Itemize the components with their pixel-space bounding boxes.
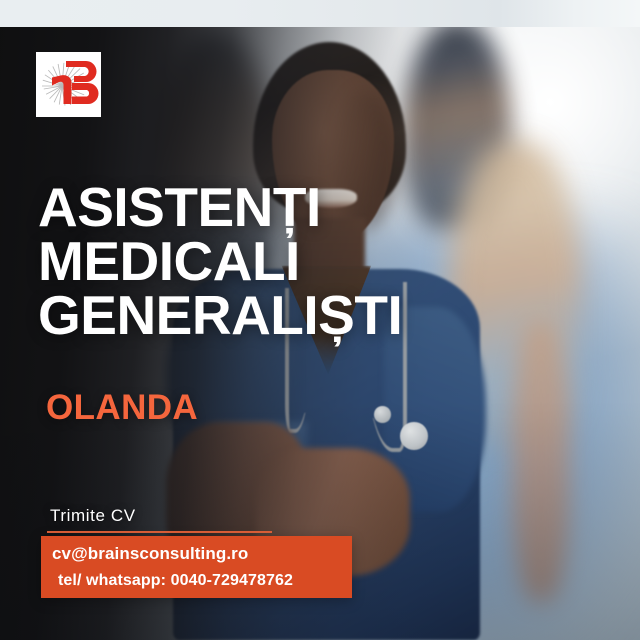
- country-label: OLANDA: [46, 388, 198, 428]
- headline-line-1: ASISTENȚI: [38, 181, 498, 235]
- brains-consulting-logo[interactable]: [36, 52, 101, 117]
- poster-content: ASISTENȚI MEDICALI GENERALIȘTI OLANDA Tr…: [0, 0, 640, 640]
- headline-line-3: GENERALIȘTI: [38, 289, 498, 343]
- page-title: ASISTENȚI MEDICALI GENERALIȘTI: [38, 181, 498, 343]
- recruitment-poster: ASISTENȚI MEDICALI GENERALIȘTI OLANDA Tr…: [0, 0, 640, 640]
- logo-icon: [36, 52, 101, 117]
- orange-divider-rule: [47, 531, 272, 533]
- headline-line-2: MEDICALI: [38, 235, 498, 289]
- contact-phone[interactable]: tel/ whatsapp: 0040-729478762: [58, 572, 293, 590]
- contact-email[interactable]: cv@brainsconsulting.ro: [52, 544, 248, 564]
- contact-box[interactable]: cv@brainsconsulting.ro tel/ whatsapp: 00…: [41, 536, 352, 598]
- send-cv-label: Trimite CV: [50, 506, 136, 526]
